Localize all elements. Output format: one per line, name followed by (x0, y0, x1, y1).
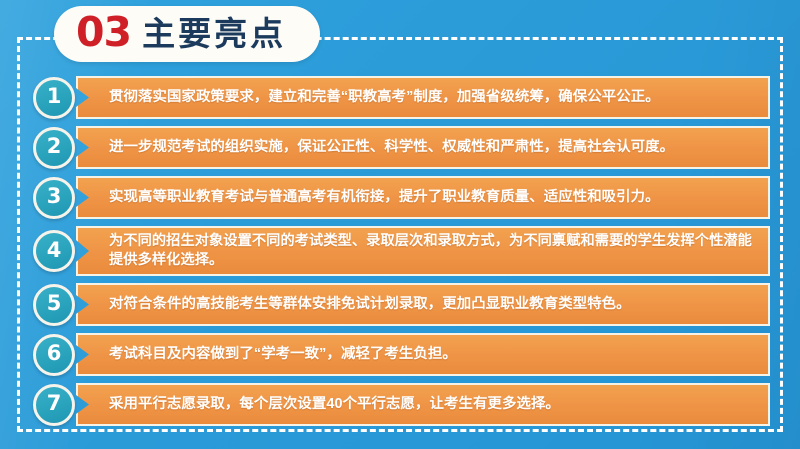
highlight-text: 贯彻落实国家政策要求，建立和完善“职教高考”制度，加强省级统筹，确保公平公正。 (109, 88, 660, 107)
highlight-bar: 对符合条件的高技能考生等群体安排免试计划录取，更加凸显职业教育类型特色。 (76, 283, 770, 326)
highlight-text: 为不同的招生对象设置不同的考试类型、录取层次和录取方式，为不同禀赋和需要的学生发… (109, 232, 756, 269)
highlight-bar: 为不同的招生对象设置不同的考试类型、录取层次和录取方式，为不同禀赋和需要的学生发… (76, 226, 770, 276)
highlight-text: 对符合条件的高技能考生等群体安排免试计划录取，更加凸显职业教育类型特色。 (109, 295, 631, 314)
list-item: 采用平行志愿录取，每个层次设置40个平行志愿，让考生有更多选择。 7 (33, 383, 770, 426)
highlight-bar: 采用平行志愿录取，每个层次设置40个平行志愿，让考生有更多选择。 (76, 383, 770, 426)
highlights-list: 贯彻落实国家政策要求，建立和完善“职教高考”制度，加强省级统筹，确保公平公正。 … (33, 76, 770, 433)
highlight-text: 实现高等职业教育考试与普通高考有机衔接，提升了职业教育质量、适应性和吸引力。 (109, 188, 660, 207)
highlight-number-badge: 3 (33, 177, 75, 219)
list-item: 贯彻落实国家政策要求，建立和完善“职教高考”制度，加强省级统筹，确保公平公正。 … (33, 76, 770, 119)
highlight-text: 考试科目及内容做到了“学考一致”，减轻了考生负担。 (109, 345, 457, 364)
highlight-bar: 考试科目及内容做到了“学考一致”，减轻了考生负担。 (76, 333, 770, 376)
highlight-text: 进一步规范考试的组织实施，保证公正性、科学性、权威性和严肃性，提高社会认可度。 (109, 138, 674, 157)
badge-label: 2 (47, 136, 62, 157)
highlight-bar: 实现高等职业教育考试与普通高考有机衔接，提升了职业教育质量、适应性和吸引力。 (76, 176, 770, 219)
list-item: 为不同的招生对象设置不同的考试类型、录取层次和录取方式，为不同禀赋和需要的学生发… (33, 226, 770, 276)
badge-label: 1 (47, 86, 62, 107)
list-item: 实现高等职业教育考试与普通高考有机衔接，提升了职业教育质量、适应性和吸引力。 3 (33, 176, 770, 219)
highlight-text: 采用平行志愿录取，每个层次设置40个平行志愿，让考生有更多选择。 (109, 395, 560, 414)
badge-label: 7 (47, 393, 62, 414)
highlight-number-badge: 2 (33, 127, 75, 169)
list-item: 进一步规范考试的组织实施，保证公正性、科学性、权威性和严肃性，提高社会认可度。 … (33, 126, 770, 169)
badge-label: 5 (47, 293, 62, 314)
list-item: 考试科目及内容做到了“学考一致”，减轻了考生负担。 6 (33, 333, 770, 376)
infographic-poster: 03 主要亮点 贯彻落实国家政策要求，建立和完善“职教高考”制度，加强省级统筹，… (0, 0, 800, 449)
page-title: 主要亮点 (142, 17, 286, 50)
highlight-number-badge: 6 (33, 334, 75, 376)
badge-label: 4 (47, 240, 62, 261)
highlight-number-badge: 4 (33, 230, 75, 272)
section-title-pill: 03 主要亮点 (54, 6, 320, 62)
badge-label: 6 (47, 343, 62, 364)
highlight-number-badge: 5 (33, 284, 75, 326)
highlight-number-badge: 1 (33, 77, 75, 119)
highlight-bar: 贯彻落实国家政策要求，建立和完善“职教高考”制度，加强省级统筹，确保公平公正。 (76, 76, 770, 119)
badge-label: 3 (47, 186, 62, 207)
highlight-number-badge: 7 (33, 384, 75, 426)
highlight-bar: 进一步规范考试的组织实施，保证公正性、科学性、权威性和严肃性，提高社会认可度。 (76, 126, 770, 169)
section-number: 03 (76, 12, 131, 53)
list-item: 对符合条件的高技能考生等群体安排免试计划录取，更加凸显职业教育类型特色。 5 (33, 283, 770, 326)
